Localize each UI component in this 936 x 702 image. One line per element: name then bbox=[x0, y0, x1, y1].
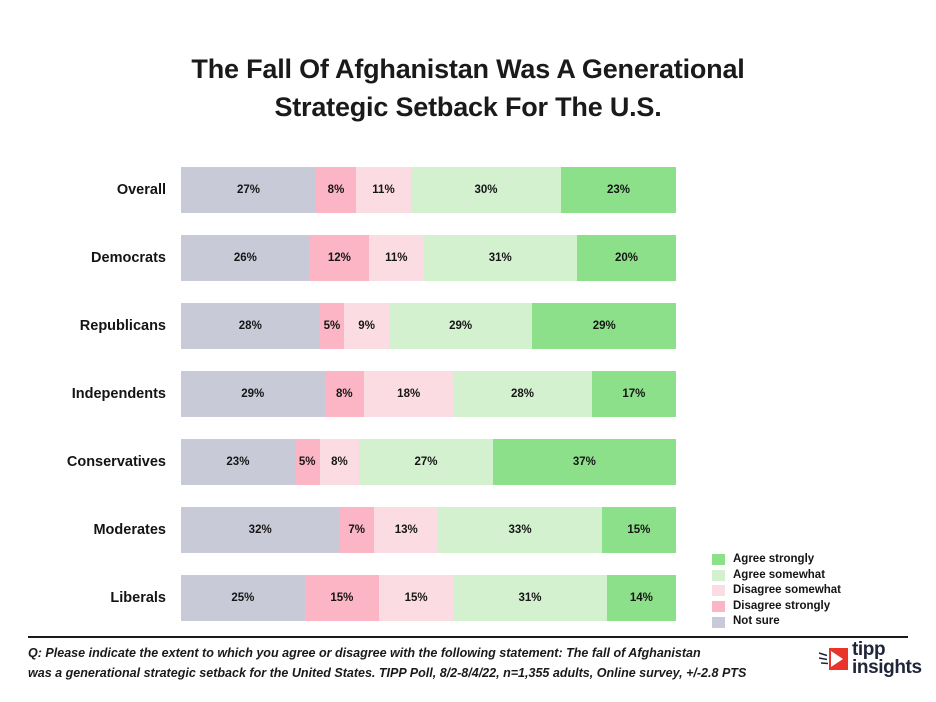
bar-segment: 29% bbox=[389, 303, 533, 349]
bar-segment-value: 25% bbox=[231, 592, 254, 604]
bar-segment: 13% bbox=[374, 507, 438, 553]
bar-track: 29%8%18%28%17% bbox=[181, 371, 676, 417]
bar-segment-value: 29% bbox=[593, 320, 616, 332]
bar-segment: 23% bbox=[181, 439, 295, 485]
bar-segment: 9% bbox=[344, 303, 389, 349]
bar-segment-value: 11% bbox=[385, 252, 407, 264]
bar-segment: 8% bbox=[325, 371, 365, 417]
category-label: Moderates bbox=[0, 507, 166, 553]
bar-segment-value: 5% bbox=[324, 320, 341, 332]
bar-segment: 5% bbox=[320, 303, 345, 349]
bar-segment-value: 23% bbox=[226, 456, 249, 468]
legend-item[interactable]: Not sure bbox=[712, 614, 932, 630]
legend-swatch-icon bbox=[712, 601, 725, 612]
bar-segment: 12% bbox=[310, 235, 369, 281]
bar-segment: 11% bbox=[356, 167, 411, 213]
legend-label: Disagree strongly bbox=[733, 599, 830, 615]
legend-swatch-icon bbox=[712, 554, 725, 565]
legend-label: Agree strongly bbox=[733, 552, 814, 568]
bar-segment-value: 12% bbox=[328, 252, 351, 264]
bar-segment: 15% bbox=[379, 575, 453, 621]
footnote-divider bbox=[28, 636, 908, 638]
category-label: Republicans bbox=[0, 303, 166, 349]
bar-segment: 7% bbox=[339, 507, 374, 553]
bar-segment-value: 15% bbox=[330, 592, 353, 604]
bar-segment: 23% bbox=[561, 167, 676, 213]
bar-segment-value: 27% bbox=[414, 456, 437, 468]
bar-row: Republicans28%5%9%29%29% bbox=[0, 303, 936, 349]
bar-row: Conservatives23%5%8%27%37% bbox=[0, 439, 936, 485]
bar-segment-value: 32% bbox=[249, 524, 272, 536]
bar-row: Overall27%8%11%30%23% bbox=[0, 167, 936, 213]
chart-legend: Agree stronglyAgree somewhatDisagree som… bbox=[712, 552, 932, 630]
bar-segment: 20% bbox=[577, 235, 676, 281]
bar-segment-value: 15% bbox=[405, 592, 428, 604]
bar-segment: 18% bbox=[364, 371, 453, 417]
bar-segment: 28% bbox=[181, 303, 320, 349]
chart-title: The Fall Of Afghanistan Was A Generation… bbox=[0, 50, 936, 127]
logo-wordmark: tipp insights bbox=[852, 641, 922, 677]
bar-track: 28%5%9%29%29% bbox=[181, 303, 676, 349]
bar-segment-value: 28% bbox=[239, 320, 262, 332]
bar-row: Independents29%8%18%28%17% bbox=[0, 371, 936, 417]
bar-segment-value: 11% bbox=[372, 184, 394, 196]
legend-item[interactable]: Agree somewhat bbox=[712, 568, 932, 584]
bar-segment-value: 15% bbox=[627, 524, 650, 536]
bar-segment: 27% bbox=[181, 167, 316, 213]
category-label: Independents bbox=[0, 371, 166, 417]
bar-row: Democrats26%12%11%31%20% bbox=[0, 235, 936, 281]
bar-segment-value: 37% bbox=[573, 456, 596, 468]
bar-segment: 5% bbox=[295, 439, 320, 485]
bar-track: 23%5%8%27%37% bbox=[181, 439, 676, 485]
bar-segment-value: 33% bbox=[509, 524, 532, 536]
tipp-insights-logo: tipp insights bbox=[818, 641, 922, 677]
bar-segment: 15% bbox=[305, 575, 379, 621]
bar-segment: 28% bbox=[453, 371, 592, 417]
bar-segment-value: 29% bbox=[241, 388, 264, 400]
bar-segment: 32% bbox=[181, 507, 339, 553]
legend-item[interactable]: Disagree somewhat bbox=[712, 583, 932, 599]
bar-segment-value: 28% bbox=[511, 388, 534, 400]
bar-segment: 29% bbox=[532, 303, 676, 349]
bar-segment-value: 31% bbox=[489, 252, 512, 264]
bar-segment-value: 27% bbox=[237, 184, 260, 196]
bar-segment: 33% bbox=[438, 507, 601, 553]
footnote-text: Q: Please indicate the extent to which y… bbox=[28, 643, 779, 682]
legend-item[interactable]: Agree strongly bbox=[712, 552, 932, 568]
bar-segment: 26% bbox=[181, 235, 310, 281]
legend-label: Not sure bbox=[733, 614, 780, 630]
bar-segment: 29% bbox=[181, 371, 325, 417]
bar-segment: 15% bbox=[602, 507, 676, 553]
category-label: Conservatives bbox=[0, 439, 166, 485]
bar-segment: 25% bbox=[181, 575, 305, 621]
bar-segment: 31% bbox=[453, 575, 606, 621]
bar-segment-value: 26% bbox=[234, 252, 257, 264]
bar-segment-value: 14% bbox=[630, 592, 653, 604]
bar-track: 32%7%13%33%15% bbox=[181, 507, 676, 553]
bar-segment-value: 29% bbox=[449, 320, 472, 332]
logo-line-2: insights bbox=[852, 659, 922, 677]
bar-segment: 8% bbox=[316, 167, 356, 213]
legend-label: Disagree somewhat bbox=[733, 583, 841, 599]
category-label: Democrats bbox=[0, 235, 166, 281]
bar-segment: 37% bbox=[493, 439, 676, 485]
legend-item[interactable]: Disagree strongly bbox=[712, 599, 932, 615]
bar-segment-value: 18% bbox=[397, 388, 420, 400]
bar-segment: 30% bbox=[411, 167, 561, 213]
bar-segment-value: 31% bbox=[518, 592, 541, 604]
bar-segment: 27% bbox=[359, 439, 493, 485]
bar-track: 25%15%15%31%14% bbox=[181, 575, 676, 621]
bar-segment-value: 8% bbox=[331, 456, 348, 468]
legend-swatch-icon bbox=[712, 585, 725, 596]
bar-segment-value: 13% bbox=[395, 524, 418, 536]
bar-segment-value: 17% bbox=[622, 388, 645, 400]
legend-label: Agree somewhat bbox=[733, 568, 825, 584]
legend-swatch-icon bbox=[712, 570, 725, 581]
bar-segment: 17% bbox=[592, 371, 676, 417]
category-label: Overall bbox=[0, 167, 166, 213]
bar-segment: 8% bbox=[320, 439, 360, 485]
bar-track: 27%8%11%30%23% bbox=[181, 167, 676, 213]
bar-segment-value: 8% bbox=[336, 388, 353, 400]
bar-segment: 11% bbox=[369, 235, 423, 281]
bar-segment: 31% bbox=[424, 235, 577, 281]
bar-segment-value: 9% bbox=[358, 320, 375, 332]
bar-segment-value: 7% bbox=[348, 524, 365, 536]
bar-segment-value: 23% bbox=[607, 184, 630, 196]
bar-row: Moderates32%7%13%33%15% bbox=[0, 507, 936, 553]
bar-segment-value: 20% bbox=[615, 252, 638, 264]
bar-track: 26%12%11%31%20% bbox=[181, 235, 676, 281]
category-label: Liberals bbox=[0, 575, 166, 621]
bar-segment-value: 8% bbox=[328, 184, 345, 196]
bar-segment-value: 5% bbox=[299, 456, 316, 468]
tipp-arrow-icon bbox=[818, 645, 848, 673]
bar-segment: 14% bbox=[607, 575, 676, 621]
bar-segment-value: 30% bbox=[474, 184, 497, 196]
legend-swatch-icon bbox=[712, 617, 725, 628]
